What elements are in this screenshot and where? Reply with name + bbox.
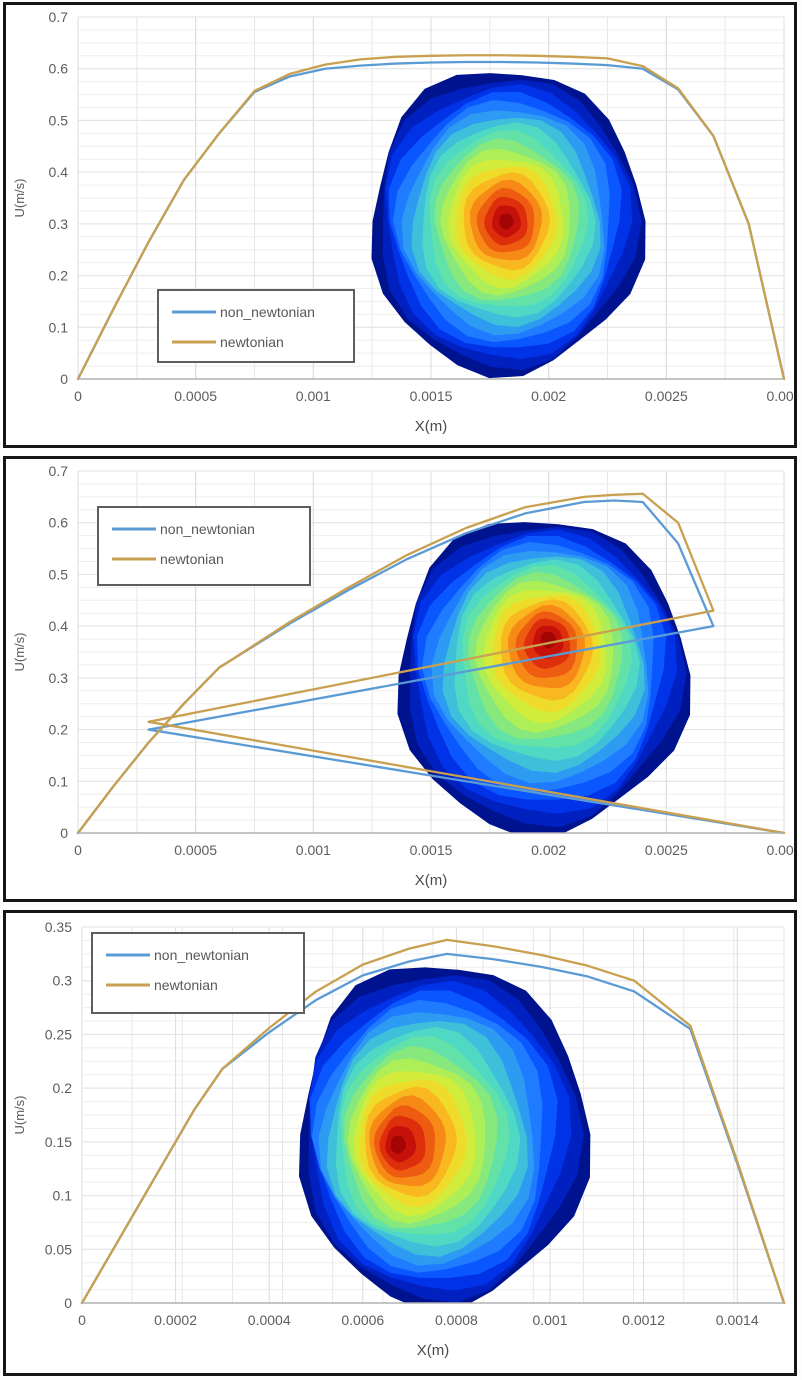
chart-2: 00.00050.0010.00150.0020.00250.00300.10.… bbox=[6, 459, 794, 899]
y-axis-title: U(m/s) bbox=[12, 633, 27, 672]
y-tick-label: 0.3 bbox=[49, 670, 69, 686]
x-tick-label: 0.001 bbox=[532, 1312, 567, 1328]
x-tick-label: 0.002 bbox=[531, 842, 566, 858]
x-tick-label: 0 bbox=[78, 1312, 86, 1328]
y-tick-label: 0.3 bbox=[53, 973, 73, 989]
x-tick-label: 0.0014 bbox=[716, 1312, 759, 1328]
x-tick-label: 0.0004 bbox=[248, 1312, 291, 1328]
y-tick-labels: 00.10.20.30.40.50.60.7 bbox=[49, 463, 69, 841]
legend: non_newtoniannewtonian bbox=[98, 507, 310, 585]
y-tick-label: 0.2 bbox=[49, 268, 69, 284]
y-tick-label: 0.15 bbox=[45, 1134, 72, 1150]
x-tick-labels: 00.00050.0010.00150.0020.00250.003 bbox=[74, 842, 794, 858]
y-tick-label: 0.7 bbox=[49, 9, 69, 25]
y-tick-label: 0.3 bbox=[49, 216, 69, 232]
x-tick-label: 0.0005 bbox=[174, 842, 217, 858]
chart-3: 00.00020.00040.00060.00080.0010.00120.00… bbox=[6, 913, 794, 1373]
x-tick-labels: 00.00020.00040.00060.00080.0010.00120.00… bbox=[78, 1312, 759, 1328]
x-tick-label: 0.003 bbox=[766, 842, 794, 858]
legend-label-newtonian: newtonian bbox=[160, 551, 224, 567]
y-axis-title: U(m/s) bbox=[12, 179, 27, 218]
x-tick-label: 0.001 bbox=[296, 842, 331, 858]
x-tick-label: 0.002 bbox=[531, 388, 566, 404]
chart-panel-2: 00.00050.0010.00150.0020.00250.00300.10.… bbox=[3, 456, 797, 902]
chart-1: 00.00050.0010.00150.0020.00250.00300.10.… bbox=[6, 5, 794, 445]
chart-panel-1: 00.00050.0010.00150.0020.00250.00300.10.… bbox=[3, 2, 797, 448]
legend-label-newtonian: newtonian bbox=[220, 334, 284, 350]
x-tick-label: 0.003 bbox=[766, 388, 794, 404]
legend: non_newtoniannewtonian bbox=[92, 933, 304, 1013]
x-axis-title: X(m) bbox=[415, 418, 448, 435]
y-tick-label: 0.2 bbox=[49, 722, 69, 738]
x-tick-label: 0.0015 bbox=[410, 842, 453, 858]
x-tick-label: 0 bbox=[74, 842, 82, 858]
y-tick-labels: 00.050.10.150.20.250.30.35 bbox=[45, 919, 72, 1311]
legend-label-non_newtonian: non_newtonian bbox=[220, 304, 315, 320]
y-tick-label: 0.1 bbox=[49, 773, 69, 789]
y-tick-label: 0.1 bbox=[49, 319, 69, 335]
y-tick-label: 0.4 bbox=[49, 618, 69, 634]
y-tick-label: 0.2 bbox=[53, 1080, 73, 1096]
legend: non_newtoniannewtonian bbox=[158, 290, 354, 362]
chart-panel-3: 00.00020.00040.00060.00080.0010.00120.00… bbox=[3, 910, 797, 1376]
y-tick-label: 0.05 bbox=[45, 1241, 72, 1257]
x-tick-label: 0.0015 bbox=[410, 388, 453, 404]
legend-label-non_newtonian: non_newtonian bbox=[160, 521, 255, 537]
y-tick-label: 0.5 bbox=[49, 566, 69, 582]
legend-label-newtonian: newtonian bbox=[154, 977, 218, 993]
y-tick-label: 0 bbox=[60, 825, 68, 841]
figure-page: 00.00050.0010.00150.0020.00250.00300.10.… bbox=[0, 0, 802, 1380]
x-axis-title: X(m) bbox=[415, 872, 448, 889]
legend-box bbox=[92, 933, 304, 1013]
x-tick-label: 0 bbox=[74, 388, 82, 404]
legend-box bbox=[158, 290, 354, 362]
x-tick-labels: 00.00050.0010.00150.0020.00250.003 bbox=[74, 388, 794, 404]
x-tick-label: 0.0025 bbox=[645, 388, 688, 404]
legend-label-non_newtonian: non_newtonian bbox=[154, 947, 249, 963]
y-tick-label: 0 bbox=[60, 371, 68, 387]
y-tick-label: 0.6 bbox=[49, 515, 69, 531]
y-axis-title: U(m/s) bbox=[12, 1096, 27, 1135]
y-tick-label: 0.1 bbox=[53, 1188, 73, 1204]
y-tick-labels: 00.10.20.30.40.50.60.7 bbox=[49, 9, 69, 387]
y-tick-label: 0.6 bbox=[49, 61, 69, 77]
x-tick-label: 0.0002 bbox=[154, 1312, 197, 1328]
y-tick-label: 0.5 bbox=[49, 112, 69, 128]
y-tick-label: 0.25 bbox=[45, 1026, 72, 1042]
y-tick-label: 0 bbox=[64, 1295, 72, 1311]
y-tick-label: 0.7 bbox=[49, 463, 69, 479]
x-tick-label: 0.001 bbox=[296, 388, 331, 404]
x-axis-title: X(m) bbox=[417, 1342, 450, 1359]
x-tick-label: 0.0006 bbox=[341, 1312, 384, 1328]
x-tick-label: 0.0005 bbox=[174, 388, 217, 404]
y-tick-label: 0.4 bbox=[49, 164, 69, 180]
x-tick-label: 0.0025 bbox=[645, 842, 688, 858]
legend-box bbox=[98, 507, 310, 585]
x-tick-label: 0.0012 bbox=[622, 1312, 665, 1328]
y-tick-label: 0.35 bbox=[45, 919, 72, 935]
x-tick-label: 0.0008 bbox=[435, 1312, 478, 1328]
